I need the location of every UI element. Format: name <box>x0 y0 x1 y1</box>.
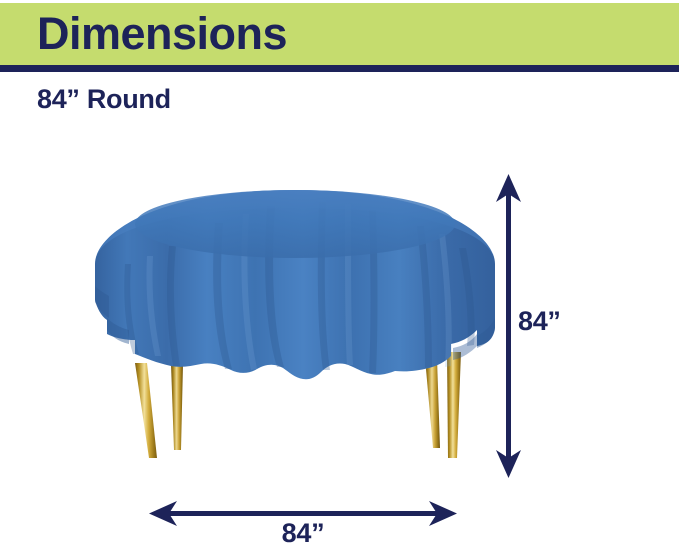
round-table-illustration <box>95 168 495 488</box>
product-size-subtitle: 84” Round <box>37 84 171 115</box>
vertical-dimension-label: 84” <box>518 306 561 337</box>
dimensions-page: Dimensions 84” Round <box>0 0 679 549</box>
horizontal-dimension-label-wrapper: 84” <box>153 518 453 549</box>
horizontal-dimension-label: 84” <box>282 518 325 548</box>
header-divider-rule <box>0 65 679 72</box>
tablecloth-drape <box>95 190 495 379</box>
page-title: Dimensions <box>37 8 287 60</box>
